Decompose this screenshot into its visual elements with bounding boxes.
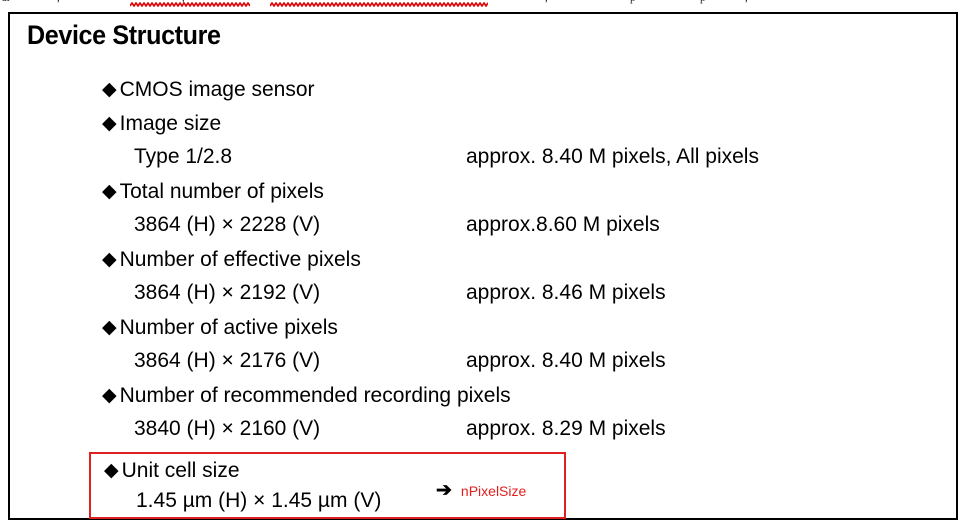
annotation-label: nPixelSize: [461, 480, 526, 502]
slide-frame: Device Structure ◆CMOS image sensor ◆Ima…: [8, 12, 958, 520]
spec-row-total-number-of-pixels: ◆Total number of pixels 3864 (H) × 2228 …: [10, 178, 956, 246]
highlight-box-unit-cell-size: ◆Unit cell size 1.45 µm (H) × 1.45 µm (V…: [89, 452, 566, 519]
spec-sub-value: Type 1/2.8: [134, 143, 232, 171]
diamond-bullet-icon: ◆: [102, 246, 117, 274]
cut-off-text-fragment: p: [630, 0, 636, 4]
cut-off-text-fragment: ar: [2, 0, 11, 4]
spec-sub-value: 3864 (H) × 2228 (V): [134, 211, 320, 239]
spec-sub-value: 1.45 µm (H) × 1.45 µm (V): [136, 487, 381, 515]
spellcheck-squiggle-icon: [130, 2, 250, 7]
diamond-bullet-icon: ◆: [102, 178, 117, 206]
diamond-bullet-icon: ◆: [104, 457, 119, 485]
cut-off-text-fragment: ,: [545, 0, 551, 4]
spec-heading: ◆Unit cell size: [104, 457, 240, 485]
spec-sub-value: 3840 (H) × 2160 (V): [134, 415, 320, 443]
spec-label: CMOS image sensor: [120, 76, 315, 104]
spec-label: Number of active pixels: [120, 314, 338, 342]
cut-off-text-strip: ar , , , p p ,: [0, 0, 971, 11]
spec-row-cmos-image-sensor: ◆CMOS image sensor: [10, 76, 956, 110]
spec-label: Number of recommended recording pixels: [120, 382, 511, 410]
cut-off-text-fragment: ,: [745, 0, 748, 4]
spec-row-image-size: ◆Image size Type 1/2.8 approx. 8.40 M pi…: [10, 110, 956, 178]
page-title: Device Structure: [27, 20, 221, 51]
spec-label: Number of effective pixels: [120, 246, 361, 274]
spec-heading: ◆Number of recommended recording pixels: [102, 382, 511, 410]
spec-sub-value: 3864 (H) × 2176 (V): [134, 347, 320, 375]
spec-label: Unit cell size: [122, 457, 240, 485]
spec-right-value: approx. 8.46 M pixels: [466, 279, 666, 307]
spec-right-value: approx.8.60 M pixels: [466, 211, 660, 239]
diamond-bullet-icon: ◆: [102, 76, 117, 104]
diamond-bullet-icon: ◆: [102, 110, 117, 138]
spec-sub-value: 3864 (H) × 2192 (V): [134, 279, 320, 307]
spec-row-number-of-active-pixels: ◆Number of active pixels 3864 (H) × 2176…: [10, 314, 956, 382]
cut-off-text-fragment: ,: [57, 0, 60, 4]
spec-heading: ◆Number of active pixels: [102, 314, 338, 342]
specification-list: ◆CMOS image sensor ◆Image size Type 1/2.…: [10, 76, 956, 450]
spellcheck-squiggle-icon: [270, 2, 488, 7]
spec-heading: ◆Image size: [102, 110, 221, 138]
spec-heading: ◆Total number of pixels: [102, 178, 324, 206]
spec-label: Total number of pixels: [120, 178, 324, 206]
spec-heading: ◆CMOS image sensor: [102, 76, 315, 104]
diamond-bullet-icon: ◆: [102, 382, 117, 410]
spec-row-number-of-effective-pixels: ◆Number of effective pixels 3864 (H) × 2…: [10, 246, 956, 314]
spec-right-value: approx. 8.40 M pixels, All pixels: [466, 143, 759, 171]
right-arrow-icon: ➔: [436, 480, 452, 502]
spec-row-number-of-recommended-recording-pixels: ◆Number of recommended recording pixels …: [10, 382, 956, 450]
annotation-callout: ➔nPixelSize: [436, 480, 526, 502]
spec-right-value: approx. 8.40 M pixels: [466, 347, 666, 375]
spec-right-value: approx. 8.29 M pixels: [466, 415, 666, 443]
spec-label: Image size: [120, 110, 222, 138]
diamond-bullet-icon: ◆: [102, 314, 117, 342]
cut-off-text-fragment: p: [700, 0, 706, 4]
spec-heading: ◆Number of effective pixels: [102, 246, 361, 274]
